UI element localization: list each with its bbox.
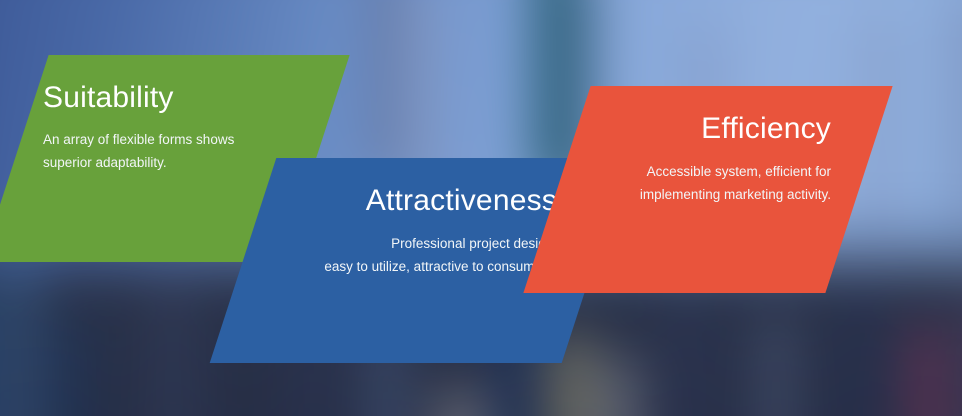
panel-attractiveness-description: Professional project design, easy to uti… xyxy=(257,232,557,278)
infographic-canvas: Suitability An array of flexible forms s… xyxy=(0,0,962,416)
panel-efficiency-desc-line-2: implementing marketing activity. xyxy=(565,183,831,206)
panel-efficiency[interactable]: Efficiency Accessible system, efficient … xyxy=(523,86,892,293)
panel-efficiency-desc-line-1: Accessible system, efficient for xyxy=(565,160,831,183)
panel-efficiency-content: Efficiency Accessible system, efficient … xyxy=(557,86,859,293)
city-blur-c xyxy=(59,315,81,416)
building-blur-1 xyxy=(373,0,395,176)
panel-efficiency-description: Accessible system, efficient for impleme… xyxy=(565,160,831,206)
city-blur-j xyxy=(676,283,702,416)
city-blur-l xyxy=(849,272,873,416)
building-blur-7 xyxy=(957,0,962,229)
city-blur-o xyxy=(438,390,482,416)
city-blur-i xyxy=(611,358,631,416)
panel-attractiveness-desc-line-2: easy to utilize, attractive to consumers… xyxy=(257,255,557,278)
city-blur-k xyxy=(762,315,790,416)
panel-attractiveness-title: Attractiveness xyxy=(243,184,557,217)
panel-suitability-title: Suitability xyxy=(43,81,316,114)
panel-attractiveness-desc-line-1: Professional project design, xyxy=(257,232,557,255)
panel-suitability-desc-line-1: An array of flexible forms shows xyxy=(43,128,300,151)
city-blur-b xyxy=(5,251,35,416)
city-blur-m xyxy=(914,326,940,416)
panel-efficiency-title: Efficiency xyxy=(557,112,831,145)
city-blur-d xyxy=(156,272,190,416)
